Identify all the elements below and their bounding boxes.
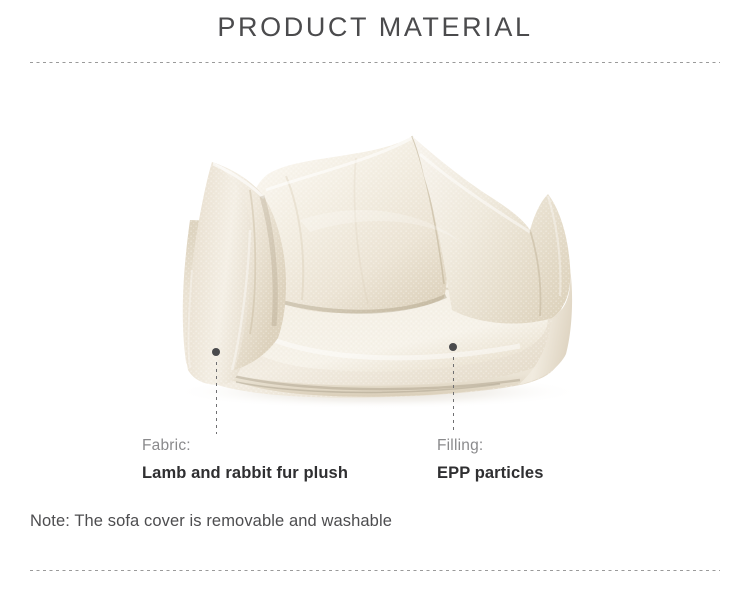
product-material-section: PRODUCT MATERIAL (0, 0, 750, 594)
callout-dot-filling (449, 343, 457, 351)
product-image (0, 70, 750, 410)
callout-dot-fabric (212, 348, 220, 356)
page-title: PRODUCT MATERIAL (0, 12, 750, 43)
callout-fabric: Fabric: Lamb and rabbit fur plush (142, 438, 348, 481)
callout-filling: Filling: EPP particles (437, 438, 543, 481)
callout-value-filling: EPP particles (437, 465, 543, 482)
callout-value-fabric: Lamb and rabbit fur plush (142, 465, 348, 482)
bean-bag-chair-illustration (0, 70, 750, 410)
divider-bottom (30, 570, 720, 571)
care-note: Note: The sofa cover is removable and wa… (30, 512, 392, 531)
callout-label-fabric: Fabric: (142, 438, 348, 454)
callout-leader-fabric (216, 362, 217, 434)
callout-label-filling: Filling: (437, 438, 543, 454)
divider-top (30, 62, 720, 63)
callout-leader-filling (453, 357, 454, 434)
